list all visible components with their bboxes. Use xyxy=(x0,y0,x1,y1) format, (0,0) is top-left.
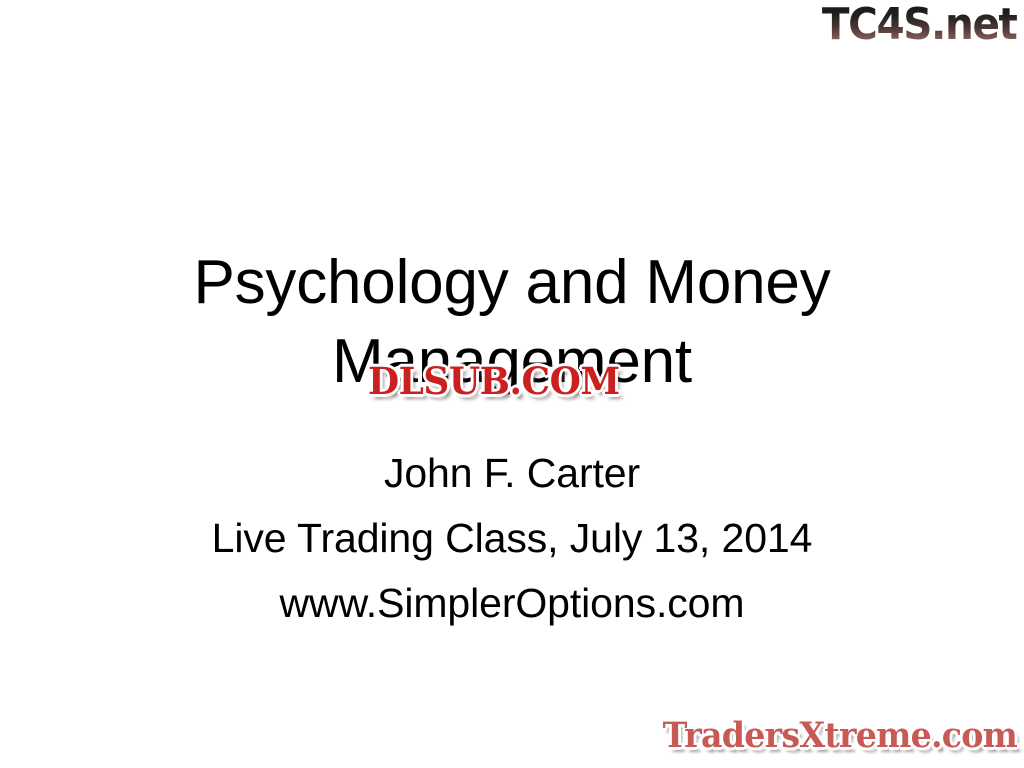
slide-title-line-1: Psychology and Money xyxy=(0,243,1024,322)
watermark-dlsub-com: DLSUB.COM xyxy=(368,360,620,402)
presentation-slide: Psychology and Money Management John F. … xyxy=(0,0,1024,768)
slide-subtitle: John F. Carter Live Trading Class, July … xyxy=(0,441,1024,636)
watermark-tradersxtreme-com: TradersXtreme.com xyxy=(663,715,1017,757)
class-date-line: Live Trading Class, July 13, 2014 xyxy=(0,506,1024,571)
website-url: www.SimplerOptions.com xyxy=(0,571,1024,636)
presenter-name: John F. Carter xyxy=(0,441,1024,506)
watermark-tc4s-net: TC4S.net xyxy=(822,1,1017,49)
